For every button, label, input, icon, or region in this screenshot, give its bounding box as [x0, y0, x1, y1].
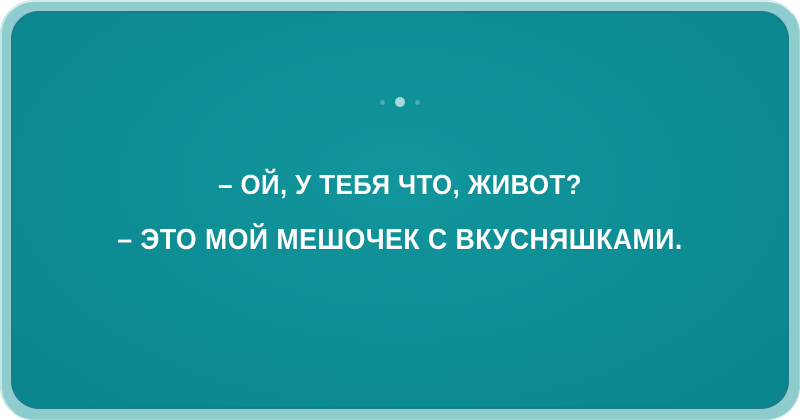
- joke-card-canvas: – ОЙ, У ТЕБЯ ЧТО, ЖИВОТ? – ЭТО МОЙ МЕШОЧ…: [0, 0, 800, 420]
- divider-dot-right-icon: [415, 100, 420, 105]
- joke-line-1: – ОЙ, У ТЕБЯ ЧТО, ЖИВОТ?: [44, 168, 756, 202]
- three-dots-divider: [13, 94, 787, 110]
- card-panel: – ОЙ, У ТЕБЯ ЧТО, ЖИВОТ? – ЭТО МОЙ МЕШОЧ…: [13, 13, 787, 407]
- joke-line-2: – ЭТО МОЙ МЕШОЧЕК С ВКУСНЯШКАМИ.: [44, 222, 756, 258]
- divider-dot-left-icon: [380, 100, 385, 105]
- joke-text-block: – ОЙ, У ТЕБЯ ЧТО, ЖИВОТ? – ЭТО МОЙ МЕШОЧ…: [13, 168, 787, 258]
- divider-dot-center-icon: [395, 97, 405, 107]
